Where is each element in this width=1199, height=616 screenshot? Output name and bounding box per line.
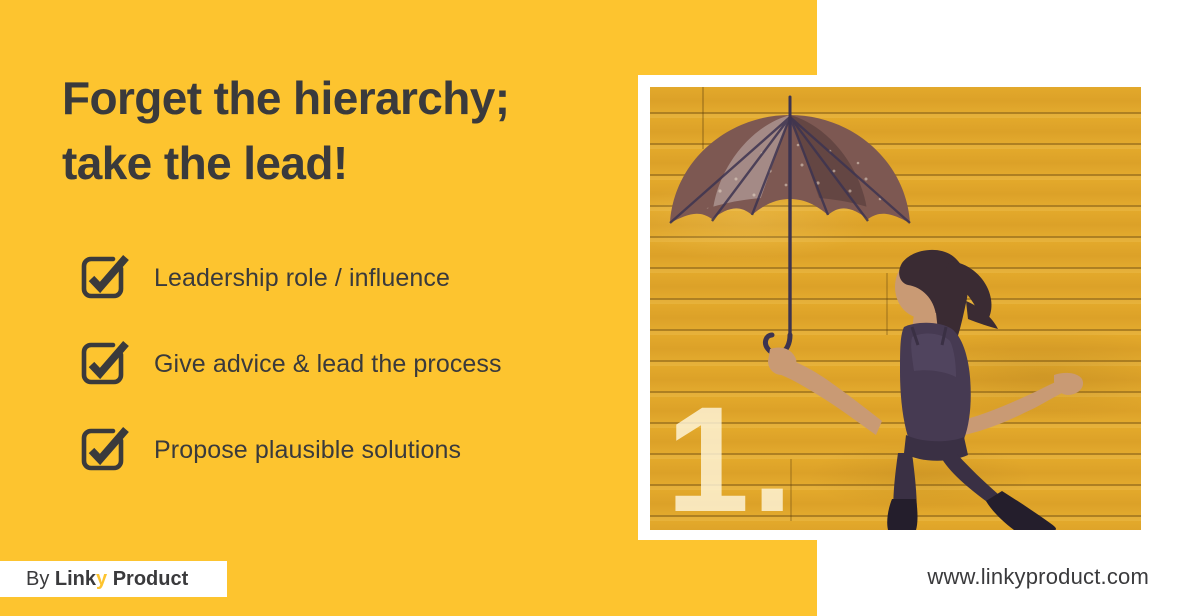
brand-link-part: Link [55,568,96,590]
list-item-label: Propose plausible solutions [154,436,461,465]
step-number-overlay: 1. [666,384,795,530]
checkbox-checked-icon [79,339,129,389]
jumping-woman [768,250,1083,530]
hero-photo: 1. [650,87,1141,530]
checkbox-checked-icon [79,253,129,303]
list-item: Give advice & lead the process [79,336,619,392]
brand-name: By Linky Product [26,568,188,591]
website-url[interactable]: www.linkyproduct.com [927,564,1149,590]
list-item-label: Give advice & lead the process [154,350,502,379]
title-line-2: take the lead! [62,131,622,196]
slide-canvas: Forget the hierarchy; take the lead! Lea… [0,0,1199,616]
brand-product-part: Product [107,568,188,590]
list-item-label: Leadership role / influence [154,264,450,293]
list-item: Propose plausible solutions [79,422,619,478]
page-title: Forget the hierarchy; take the lead! [62,66,622,197]
list-item: Leadership role / influence [79,250,619,306]
umbrella [670,97,910,354]
title-line-1: Forget the hierarchy; [62,66,622,131]
checklist: Leadership role / influence Give advice … [79,250,619,478]
brand-prefix: By [26,568,55,590]
brand-badge: By Linky Product [0,561,227,597]
checkbox-checked-icon [79,425,129,475]
brand-y-accent: y [96,568,107,590]
